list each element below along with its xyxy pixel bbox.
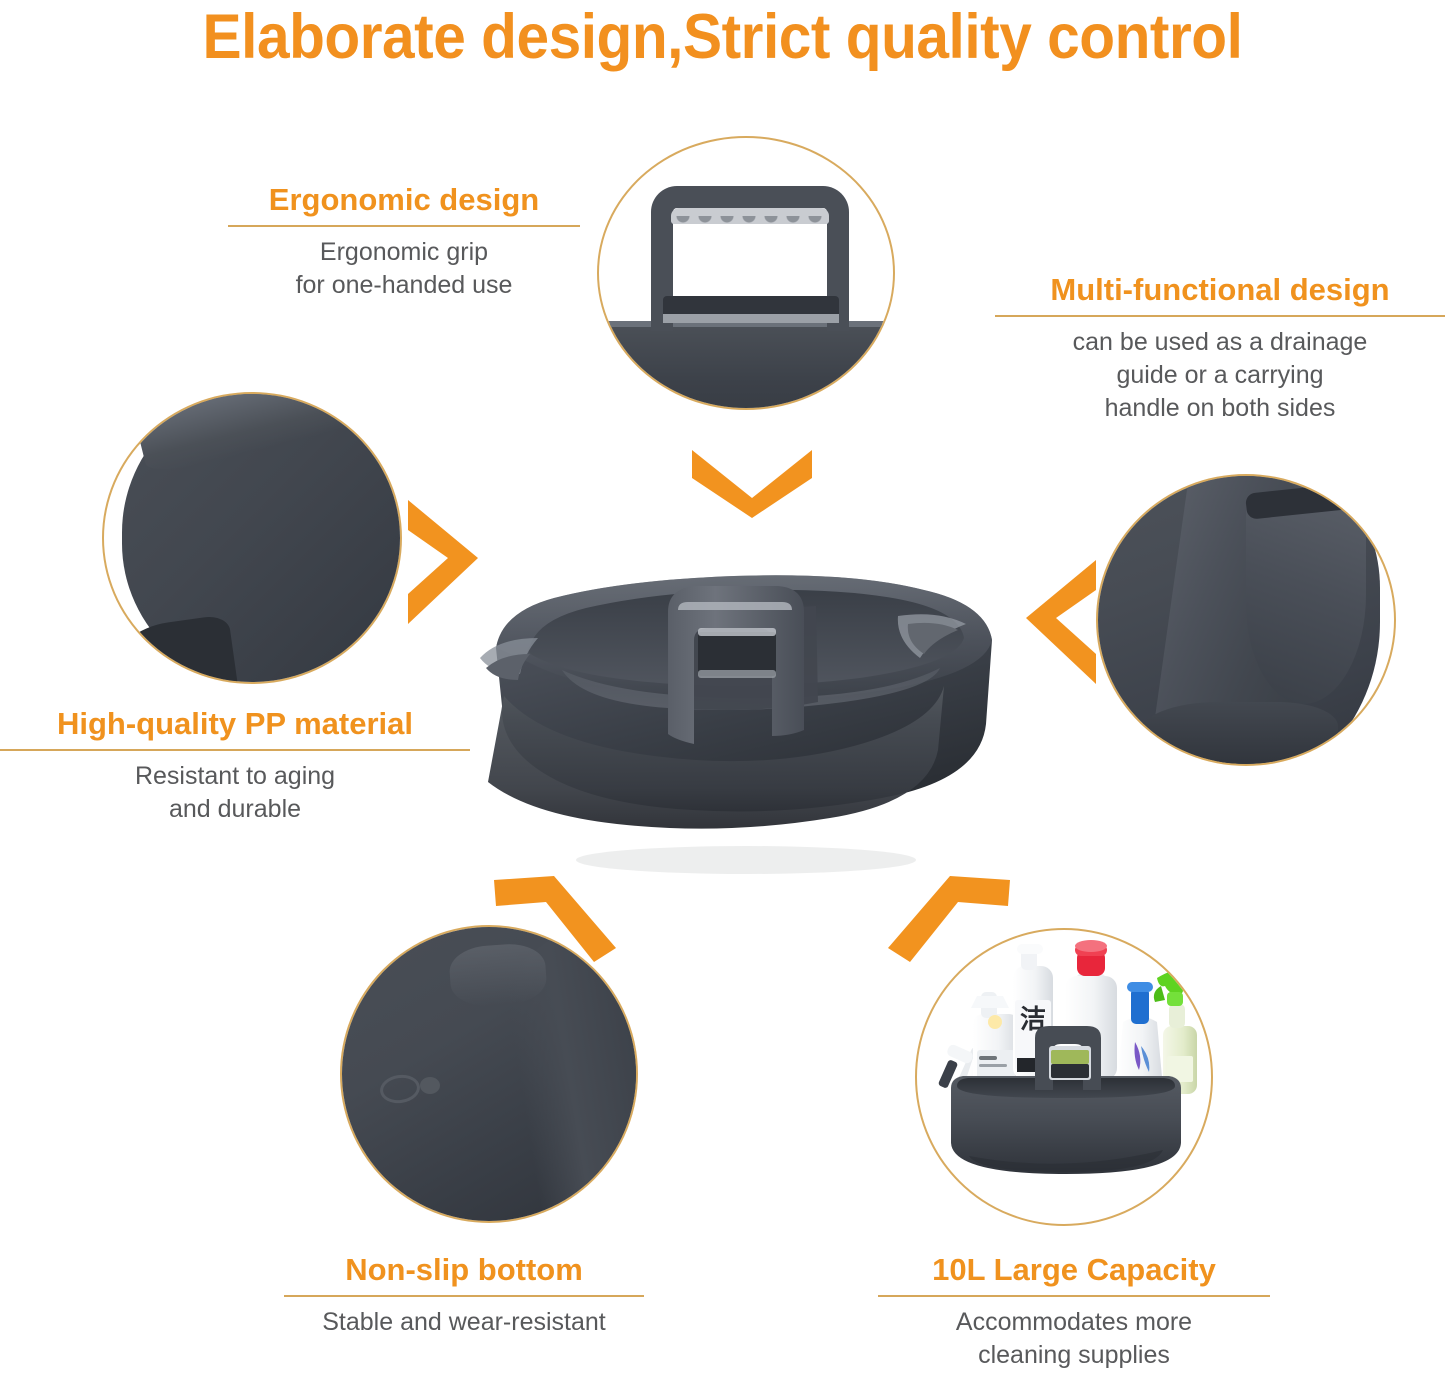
callout-heading: Multi-functional design [995, 272, 1445, 308]
chevron-left-icon [1022, 556, 1100, 688]
callout-body-line: handle on both sides [995, 392, 1445, 425]
callout-body-line: Ergonomic grip [228, 236, 580, 269]
chevron-down-icon [688, 446, 816, 518]
handle-grip-highlight [678, 602, 792, 610]
handle-closeup-art [599, 138, 893, 408]
callout-body-line: guide or a carrying [995, 359, 1445, 392]
caddy-wall [597, 324, 895, 410]
handle-aperture-bottom-edge [698, 670, 776, 678]
callout-body-line: for one-handed use [228, 269, 580, 302]
bottom-closeup-bubble [340, 925, 638, 1223]
callout-underline [284, 1295, 644, 1297]
callout-heading: Non-slip bottom [284, 1252, 644, 1288]
callout-underline [995, 315, 1445, 317]
material-surface-closeup-bubble [102, 392, 402, 684]
callout-body: Ergonomic grip for one-handed use [228, 236, 580, 302]
handle-lower-bar-highlight [663, 314, 839, 323]
non-slip-nub [420, 1077, 440, 1094]
callout-heading: Ergonomic design [228, 182, 580, 218]
chevron-up-right-icon [884, 866, 1016, 964]
loaded-caddy-art: 洁 [917, 930, 1211, 1224]
callout-large-capacity: 10L Large Capacity Accommodates more cle… [878, 1252, 1270, 1372]
callout-body-line: can be used as a drainage [995, 326, 1445, 359]
callout-underline [0, 749, 470, 751]
handle-grip-ridges [673, 216, 827, 228]
bottom-closeup-art [342, 927, 636, 1221]
callout-body-line: Resistant to aging [0, 760, 470, 793]
callout-multi-functional-design: Multi-functional design can be used as a… [995, 272, 1445, 425]
cleaning-caddy-product-photo [466, 520, 1022, 880]
chevron-up-left-icon [488, 866, 620, 964]
callout-body: can be used as a drainage guide or a car… [995, 326, 1445, 425]
caddy-lower-lip [1138, 702, 1338, 766]
loaded-caddy-bubble: 洁 [915, 928, 1213, 1226]
handle-aperture-top-edge [698, 628, 776, 636]
material-surface-art [104, 394, 400, 682]
ground-shadow [576, 846, 916, 874]
caddy-foot-shadow [109, 614, 239, 684]
callout-ergonomic-design: Ergonomic design Ergonomic grip for one-… [228, 182, 580, 302]
callout-body-line: cleaning supplies [878, 1339, 1270, 1372]
handle-aperture [698, 632, 776, 676]
page-title: Elaborate design,Strict quality control [51, 2, 1395, 72]
callout-body-line: Accommodates more [878, 1306, 1270, 1339]
infographic-canvas: Elaborate design,Strict quality control [0, 0, 1445, 1392]
chevron-right-icon [404, 496, 482, 628]
callout-underline [878, 1295, 1270, 1297]
callout-underline [228, 225, 580, 227]
callout-body: Stable and wear-resistant [284, 1306, 644, 1339]
handle-closeup-bubble [597, 136, 895, 410]
callout-non-slip-bottom: Non-slip bottom Stable and wear-resistan… [284, 1252, 644, 1339]
callout-body-line: Stable and wear-resistant [284, 1306, 644, 1339]
callout-heading: 10L Large Capacity [878, 1252, 1270, 1288]
callout-heading: High-quality PP material [0, 706, 470, 742]
side-notch-art [1098, 476, 1394, 764]
callout-body-line: and durable [0, 793, 470, 826]
side-notch-closeup-bubble [1096, 474, 1396, 766]
callout-body: Accommodates more cleaning supplies [878, 1306, 1270, 1372]
callout-pp-material: High-quality PP material Resistant to ag… [0, 706, 470, 826]
callout-body: Resistant to aging and durable [0, 760, 470, 826]
caddy-body [951, 1076, 1181, 1174]
